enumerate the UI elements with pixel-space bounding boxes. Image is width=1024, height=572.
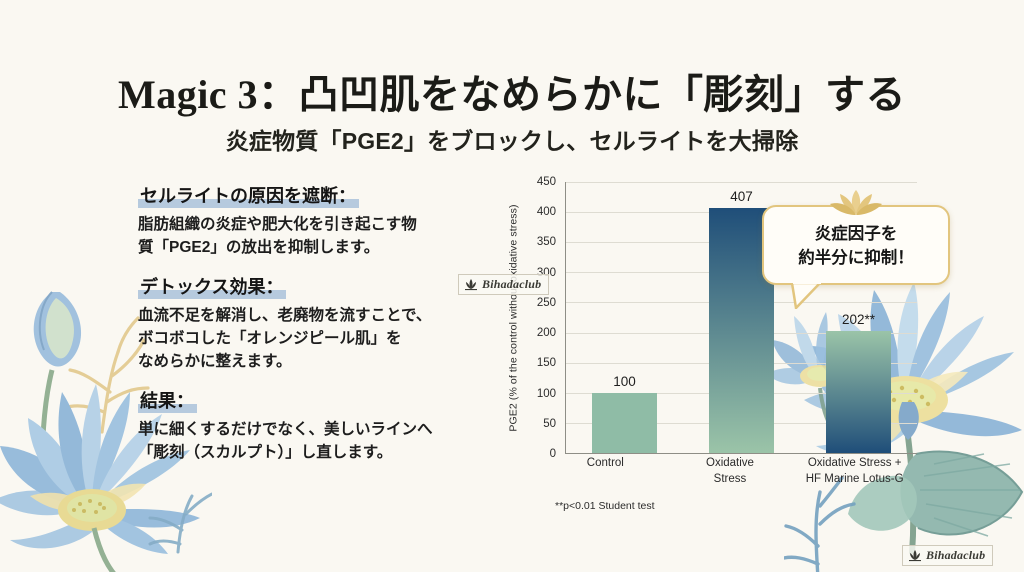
chart-x-label-0: Control (545, 456, 665, 487)
slide-subtitle: 炎症物質「PGE2」をブロックし、セルライトを大掃除 (0, 122, 1024, 156)
benefit-body-2-line-3: なめらかに整えます。 (138, 350, 468, 373)
chart-x-label-2-line: Oxidative Stress + (795, 456, 915, 472)
chart-x-label-2: Oxidative Stress +HF Marine Lotus-G (795, 456, 915, 487)
benefit-body-1-line-1: 脂肪組織の炎症や肥大化を引き起こす物 (138, 213, 468, 236)
chart-x-label-2-line: HF Marine Lotus-G (795, 472, 915, 488)
benefits-text-column: セルライトの原因を遮断： 脂肪組織の炎症や肥大化を引き起こす物 質「PGE2」の… (138, 185, 468, 481)
chart-x-label-1: OxidativeStress (670, 456, 790, 487)
chart-bar-2: 202** (826, 331, 891, 453)
chart-y-axis-ticks: 050100150200250300350400450 (527, 182, 561, 454)
callout-line-1: 炎症因子を (772, 223, 940, 247)
chart-y-tick-200: 200 (537, 327, 556, 339)
chart-footnote: **p<0.01 Student test (555, 500, 655, 512)
chart-y-tick-400: 400 (537, 206, 556, 218)
chart-bar-value-0: 100 (613, 374, 636, 389)
slide-title: Magic 3：凸凹肌をなめらかに「彫刻」する (0, 62, 1024, 120)
slide-root: Magic 3：凸凹肌をなめらかに「彫刻」する 炎症物質「PGE2」をブロックし… (0, 0, 1024, 572)
benefit-body-1: 脂肪組織の炎症や肥大化を引き起こす物 質「PGE2」の放出を抑制します。 (138, 213, 468, 260)
chart-y-tick-100: 100 (537, 388, 556, 400)
chart-x-axis-labels: ControlOxidativeStressOxidative Stress +… (543, 456, 917, 487)
benefit-heading-1: セルライトの原因を遮断： (138, 185, 359, 209)
chart-x-label-1-line: Stress (670, 472, 790, 488)
chart-y-axis-title: PGE2 (% of the control without oxidative… (508, 204, 520, 431)
chart-bar-slot-0: 100 (572, 182, 677, 453)
chart-y-tick-250: 250 (537, 297, 556, 309)
chart-y-tick-50: 50 (543, 418, 556, 430)
chart-x-label-0-line: Control (545, 456, 665, 472)
benefit-body-2-line-1: 血流不足を解消し、老廃物を流すことで、 (138, 304, 468, 327)
chart-x-label-1-line: Oxidative (670, 456, 790, 472)
benefit-body-3-line-1: 単に細くするだけでなく、美しいラインへ (138, 418, 468, 441)
watermark-corner-text: Bihadaclub (926, 548, 985, 563)
bihadaclub-logo-icon (464, 278, 478, 291)
benefit-body-1-line-2: 質「PGE2」の放出を抑制します。 (138, 236, 468, 259)
chart-y-tick-150: 150 (537, 357, 556, 369)
chart-bar-value-1: 407 (730, 189, 753, 204)
benefit-section-1: セルライトの原因を遮断： 脂肪組織の炎症や肥大化を引き起こす物 質「PGE2」の… (138, 185, 468, 259)
benefit-body-2: 血流不足を解消し、老廃物を流すことで、 ボコボコした「オレンジピール肌」を なめ… (138, 304, 468, 374)
benefit-section-3: 結果： 単に細くするだけでなく、美しいラインへ 「彫刻（スカルプト）」し直します… (138, 390, 468, 464)
watermark-chart: Bihadaclub (458, 274, 549, 295)
bihadaclub-logo-icon (908, 549, 922, 562)
highlight-callout: 炎症因子を 約半分に抑制！ (762, 205, 950, 285)
benefit-body-3-line-2: 「彫刻（スカルプト）」し直します。 (138, 441, 468, 464)
lotus-icon (829, 187, 883, 217)
chart-bar-value-2: 202** (842, 312, 875, 327)
benefit-body-2-line-2: ボコボコした「オレンジピール肌」を (138, 327, 468, 350)
watermark-corner: Bihadaclub (902, 545, 993, 566)
chart-bar-0: 100 (592, 393, 657, 453)
watermark-chart-text: Bihadaclub (482, 277, 541, 292)
benefit-body-3: 単に細くするだけでなく、美しいラインへ 「彫刻（スカルプト）」し直します。 (138, 418, 468, 465)
callout-tail (790, 283, 824, 309)
benefit-section-2: デトックス効果： 血流不足を解消し、老廃物を流すことで、 ボコボコした「オレンジ… (138, 276, 468, 373)
chart-y-axis-title-wrap: PGE2 (% of the control without oxidative… (505, 182, 523, 454)
callout-line-2: 約半分に抑制！ (772, 247, 940, 271)
benefit-heading-3: 結果： (138, 390, 197, 414)
chart-y-tick-450: 450 (537, 176, 556, 188)
chart-y-tick-350: 350 (537, 236, 556, 248)
benefit-heading-2: デトックス効果： (138, 276, 286, 300)
